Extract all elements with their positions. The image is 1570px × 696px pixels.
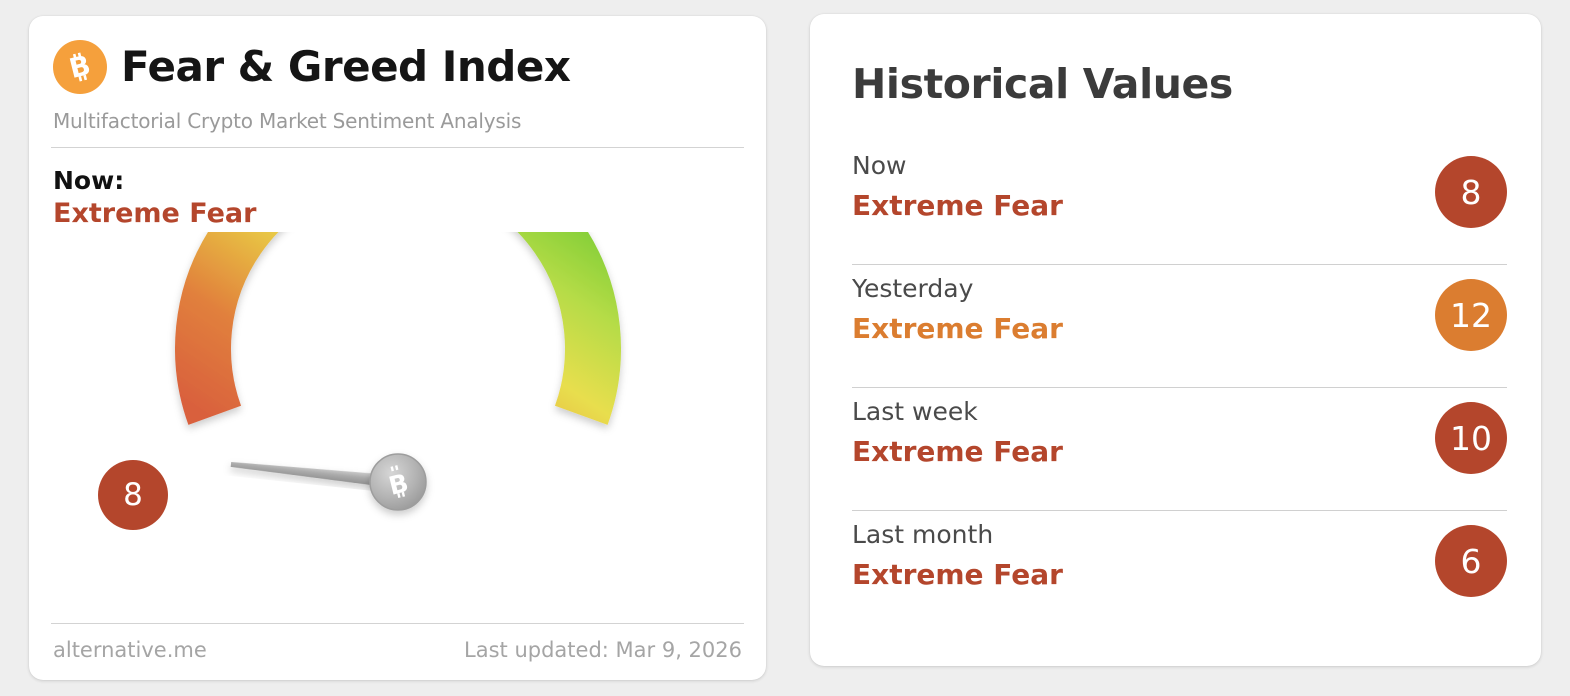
historical-values-list: NowExtreme Fear8YesterdayExtreme Fear12L… bbox=[852, 142, 1507, 634]
historical-card-content: Historical Values NowExtreme Fear8Yester… bbox=[852, 54, 1507, 644]
bitcoin-icon: B bbox=[53, 40, 107, 94]
gauge-card-footer: alternative.me Last updated: Mar 9, 2026 bbox=[51, 623, 744, 662]
gauge-arc bbox=[203, 232, 593, 415]
historical-row-sentiment: Extreme Fear bbox=[852, 559, 1507, 591]
historical-row: YesterdayExtreme Fear12 bbox=[852, 265, 1507, 388]
historical-row-score-badge: 10 bbox=[1435, 402, 1507, 474]
bitcoin-needle-hub-icon: B bbox=[370, 454, 426, 510]
gauge-card-header: B Fear & Greed Index bbox=[51, 36, 744, 98]
current-sentiment-block: Now: Extreme Fear bbox=[51, 166, 744, 230]
gauge-area: 8 bbox=[51, 232, 744, 592]
now-sentiment-value: Extreme Fear bbox=[53, 198, 744, 230]
historical-row-sentiment: Extreme Fear bbox=[852, 313, 1507, 345]
fear-greed-index-card: B Fear & Greed Index Multifactorial Cryp… bbox=[29, 16, 766, 680]
historical-values-card: Historical Values NowExtreme Fear8Yester… bbox=[810, 14, 1541, 666]
historical-row-period: Last month bbox=[852, 511, 1507, 550]
historical-row-period: Last week bbox=[852, 388, 1507, 427]
header-divider bbox=[51, 147, 744, 148]
fear-greed-dashboard: B Fear & Greed Index Multifactorial Cryp… bbox=[0, 0, 1570, 696]
historical-row-sentiment: Extreme Fear bbox=[852, 190, 1507, 222]
historical-row-score-badge: 12 bbox=[1435, 279, 1507, 351]
historical-row: Last monthExtreme Fear6 bbox=[852, 511, 1507, 634]
fear-greed-gauge: B bbox=[118, 232, 678, 582]
last-updated-text: Last updated: Mar 9, 2026 bbox=[464, 638, 742, 662]
gauge-card-content: B Fear & Greed Index Multifactorial Cryp… bbox=[51, 36, 744, 662]
historical-row: Last weekExtreme Fear10 bbox=[852, 388, 1507, 511]
historical-row: NowExtreme Fear8 bbox=[852, 142, 1507, 265]
now-label: Now: bbox=[53, 166, 744, 196]
historical-row-period: Yesterday bbox=[852, 265, 1507, 304]
historical-row-score-badge: 6 bbox=[1435, 525, 1507, 597]
page-title: Fear & Greed Index bbox=[121, 46, 570, 88]
historical-row-sentiment: Extreme Fear bbox=[852, 436, 1507, 468]
source-link[interactable]: alternative.me bbox=[53, 638, 207, 662]
page-subtitle: Multifactorial Crypto Market Sentiment A… bbox=[51, 109, 744, 133]
historical-values-title: Historical Values bbox=[852, 54, 1507, 105]
historical-row-score-badge: 8 bbox=[1435, 156, 1507, 228]
historical-row-period: Now bbox=[852, 142, 1507, 181]
